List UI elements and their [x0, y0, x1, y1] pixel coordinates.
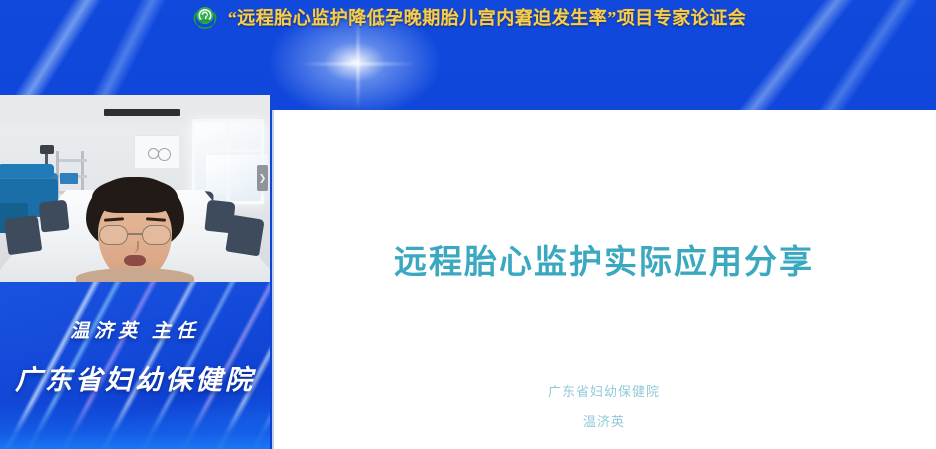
- speaker-portrait: [86, 177, 184, 282]
- slide-presenter: 温济英: [272, 411, 936, 430]
- chair: [39, 200, 70, 233]
- shoulders: [76, 268, 194, 282]
- slide-organization: 广东省妇幼保健院: [272, 381, 936, 400]
- hair-fringe: [92, 179, 178, 213]
- nameplate-organization: 广东省妇幼保健院: [0, 358, 270, 397]
- screen-share-stage: “远程胎心监护降低孕晚期胎儿宫内窘迫发生率”项目专家论证会 远程胎心监护实际应用…: [0, 0, 936, 449]
- expand-panel-chevron-icon[interactable]: ❯: [257, 165, 268, 191]
- slide-title: 远程胎心监护实际应用分享: [272, 235, 936, 283]
- chair: [4, 215, 43, 255]
- nameplate-name: 温济英 主任: [0, 316, 270, 343]
- speaker-video-tile[interactable]: ❯: [0, 95, 270, 282]
- event-title: “远程胎心监护降低孕晚期胎儿宫内窘迫发生率”项目专家论证会: [228, 4, 747, 30]
- event-banner: “远程胎心监护降低孕晚期胎儿宫内窘迫发生率”项目专家论证会: [0, 0, 936, 34]
- mouth: [124, 255, 146, 266]
- ceiling-light-icon: [104, 109, 180, 116]
- speaker-nameplate: 温济英 主任 广东省妇幼保健院: [0, 282, 270, 449]
- organization-emblem-icon: [190, 2, 220, 32]
- shared-slide[interactable]: 远程胎心监护实际应用分享 广东省妇幼保健院 温济英: [272, 110, 936, 449]
- room-ceiling: [0, 95, 270, 121]
- slide-left-edge: [272, 110, 274, 449]
- shelf-item: [60, 173, 78, 184]
- speaker-column: ❯ 温济英 主任 广东省妇幼保健院: [0, 95, 270, 449]
- wall-art: [134, 135, 180, 169]
- chair: [225, 215, 264, 257]
